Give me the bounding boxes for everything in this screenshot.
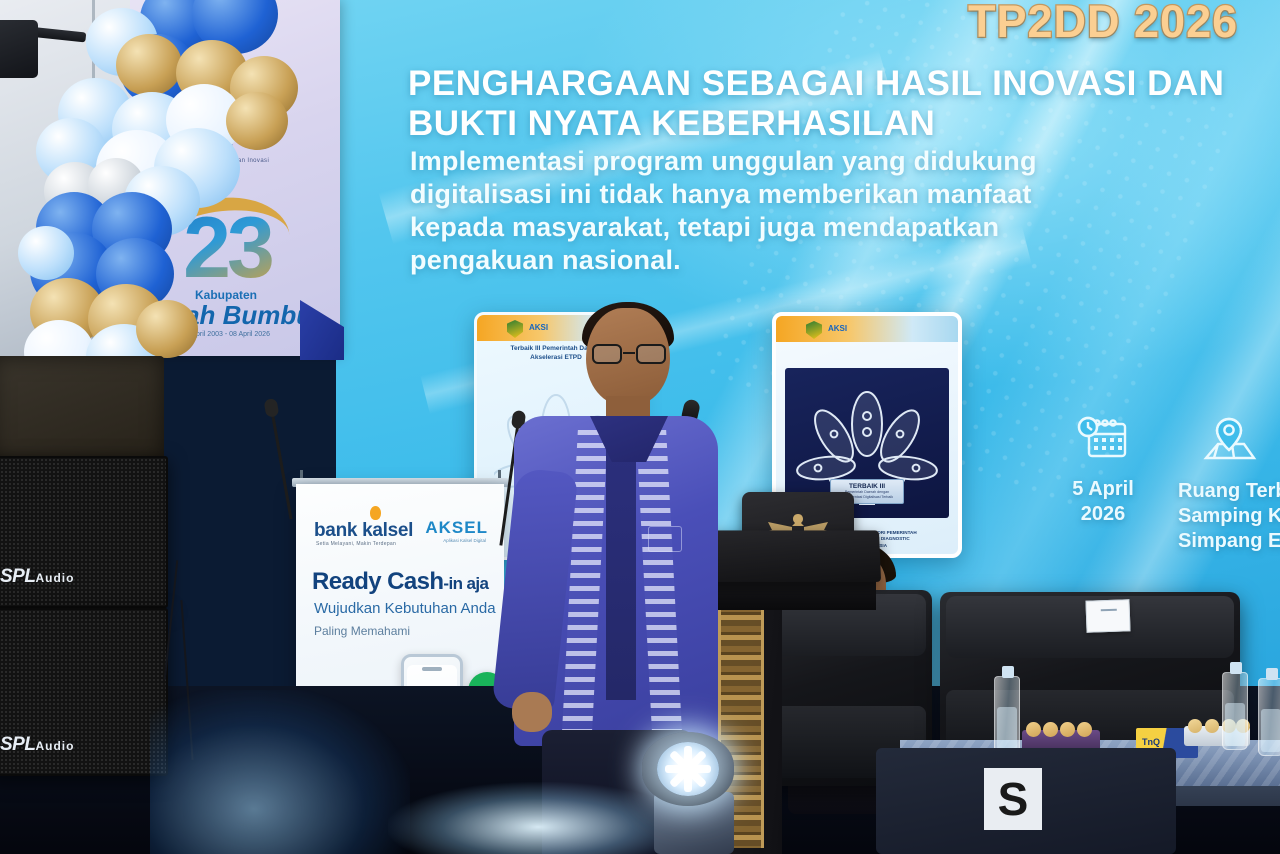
- shirt-pocket: [648, 526, 682, 552]
- balloon: [18, 226, 74, 280]
- seat-name-card: [1085, 599, 1130, 633]
- water-bottle: [1258, 678, 1280, 756]
- product-title-suffix: -in aja: [443, 574, 488, 593]
- bag-logo: S: [984, 768, 1042, 830]
- aksel-logo-text: AKSEL: [425, 518, 488, 538]
- eyeglasses-icon: [590, 344, 668, 364]
- water-bottle: [1222, 672, 1248, 750]
- speaker-hand: [512, 692, 552, 732]
- speaker-brand-label: SPLAudio: [0, 734, 74, 756]
- balloon: [116, 34, 182, 96]
- pa-speaker-lower: SPLAudio: [0, 608, 168, 776]
- bank-tagline: Setia Melayani, Makin Terdepan: [316, 541, 396, 547]
- event-tag-tp2dd: TP2DD 2026: [968, 0, 1238, 48]
- backdrop-subcopy: Implementasi program unggulan yang diduk…: [410, 145, 1110, 277]
- product-title-main: Ready Cash: [312, 568, 443, 595]
- equipment-bag: S: [876, 748, 1176, 854]
- pa-speaker-upper: SPLAudio: [0, 456, 168, 608]
- speaker-flight-case: [0, 356, 164, 464]
- shirt-placket: [606, 450, 636, 700]
- balloon: [226, 92, 288, 150]
- phone-notch: [422, 667, 442, 671]
- balloon: [136, 300, 198, 358]
- event-photo-stage: TP2DD 2026 PENGHARGAAN SEBAGAI HASIL INO…: [0, 0, 1280, 854]
- light-head: [642, 732, 734, 806]
- product-title: Ready Cash-in aja: [312, 568, 497, 596]
- backdrop-headline: PENGHARGAAN SEBAGAI HASIL INOVASI DAN BU…: [408, 64, 1238, 144]
- bank-logo-text: bank kalsel: [314, 520, 413, 542]
- certificate-top-bar: [776, 316, 958, 342]
- info-date-text: 5 April 2026: [1072, 478, 1134, 525]
- moving-head-light: [640, 726, 748, 854]
- flown-speaker: [0, 20, 38, 78]
- speaker-brand-sub: Audio: [35, 739, 74, 753]
- info-place-text: Ruang Terbu Samping KF Simpang Em: [1178, 480, 1280, 552]
- water-bottle: [994, 676, 1020, 754]
- headline-line-1: PENGHARGAAN SEBAGAI HASIL INOVASI DAN: [408, 64, 1238, 104]
- product-tagline-2: Paling Memahami: [314, 624, 410, 638]
- calendar-clock-icon: [1048, 416, 1158, 469]
- backdrop-info-date: 5 April 2026: [1048, 416, 1158, 527]
- product-tagline-1: Wujudkan Kebutuhan Anda: [314, 600, 499, 617]
- headline-line-2: BUKTI NYATA KEBERHASILAN: [408, 104, 1238, 144]
- stand-microphone: [270, 411, 292, 520]
- speaker-brand-sub: Audio: [35, 571, 74, 585]
- speaker-brand-label: SPLAudio: [0, 566, 74, 588]
- map-pin-icon: [1200, 416, 1280, 471]
- bank-kalsel-mark-icon: [370, 506, 381, 520]
- certificate-logo-text: AKSI: [828, 324, 847, 333]
- speaker-brand-main: SPL: [0, 566, 35, 587]
- backdrop-info-place: Ruang Terbu Samping KF Simpang Em: [1178, 416, 1280, 554]
- plaque-title: TERBAIK III: [831, 483, 903, 490]
- speaker-brand-main: SPL: [0, 734, 35, 755]
- stage-glow-left: [150, 690, 410, 854]
- aksel-logo-sub: Aplikasi Kalsel Digital: [443, 538, 486, 543]
